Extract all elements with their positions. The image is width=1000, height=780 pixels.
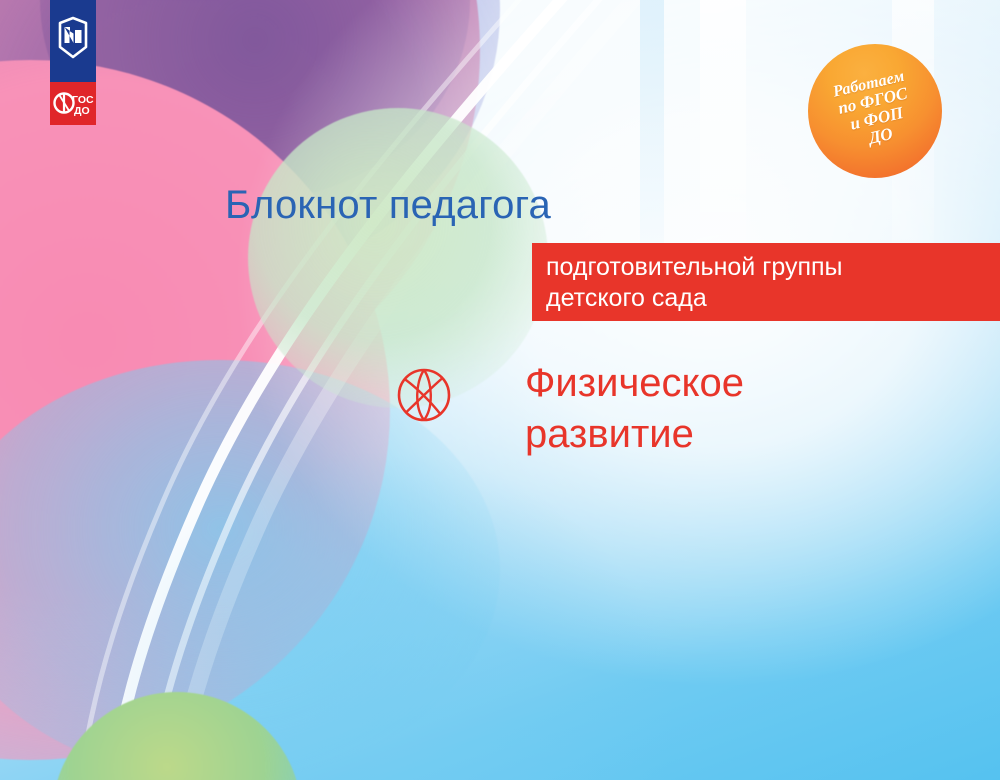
basketball-icon: [396, 367, 452, 423]
svg-text:ДО: ДО: [74, 105, 90, 117]
subtitle-banner: подготовительной группы детского сада: [532, 243, 1000, 321]
subject-title-line-2: развитие: [525, 409, 744, 460]
subtitle-banner-text: подготовительной группы детского сада: [546, 252, 990, 313]
cover-page: ГОС ДО Работаем по ФГОС и ФОП ДО Блокнот…: [0, 0, 1000, 780]
subtitle-banner-line-1: подготовительной группы: [546, 252, 990, 283]
subtitle-banner-line-2: детского сада: [546, 283, 990, 314]
subject-title: Физическое развитие: [525, 358, 744, 460]
publisher-logo-bottom: ГОС ДО: [50, 82, 96, 125]
decorative-green-circle: [248, 108, 548, 408]
fgos-fop-badge[interactable]: Работаем по ФГОС и ФОП ДО: [808, 44, 942, 178]
publisher-logo-top: [50, 0, 96, 82]
subject-title-line-1: Физическое: [525, 361, 744, 405]
fgos-do-emblem-icon: ГОС ДО: [50, 82, 96, 125]
publisher-logo[interactable]: ГОС ДО: [50, 0, 96, 125]
prosveshchenie-emblem-icon: [50, 0, 96, 82]
badge-line-4: ДО: [867, 125, 894, 148]
page-title: Блокнот педагога: [225, 183, 551, 228]
